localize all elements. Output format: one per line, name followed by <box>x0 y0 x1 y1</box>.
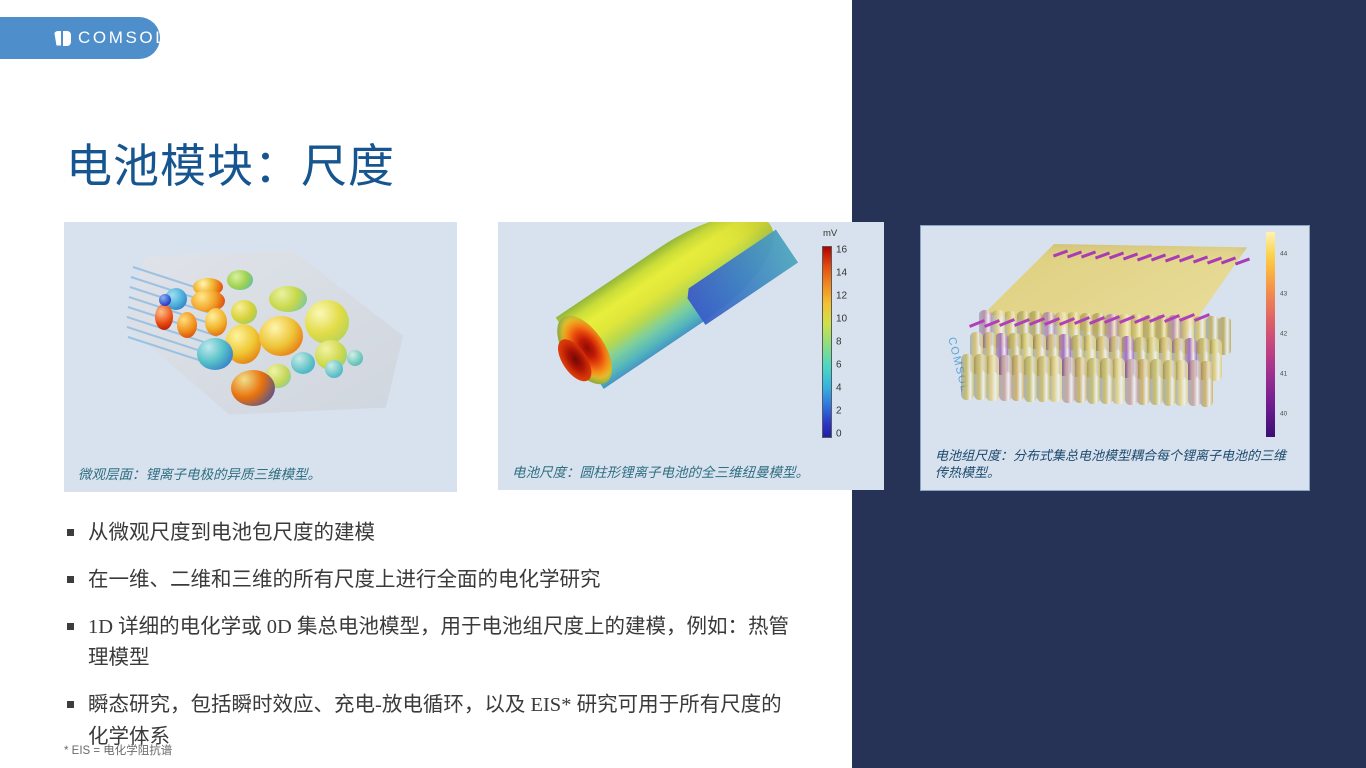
pack-cell <box>1024 356 1037 402</box>
pack-cell <box>1125 359 1138 405</box>
colorbar-mv-tick: 10 <box>836 314 847 325</box>
figure-card-microstructure: 微观层面：锂离子电极的异质三维模型。 <box>64 222 457 492</box>
bullet-item: 1D 详细的电化学或 0D 集总电池模型，用于电池组尺度上的建模，例如：热管理模… <box>62 612 792 676</box>
bullet-list: 从微观尺度到电池包尺度的建模 在一维、二维和三维的所有尺度上进行全面的电化学研究… <box>62 518 792 768</box>
pack-cell <box>974 354 987 400</box>
pack-cell <box>1112 358 1125 404</box>
colorbar-mv-tick: 16 <box>836 245 847 256</box>
microstructure-render <box>64 222 457 444</box>
colorbar-mv-gradient <box>822 246 832 438</box>
figure-caption-battery-pack: 电池组尺度：分布式集总电池模型耦合每个锂离子电池的三维传热模型。 <box>921 441 1309 490</box>
figure-card-battery-pack: COMSOL 电池组尺度：分布式集总电池模型耦合每个锂离子电池的三维传热模型。 <box>920 225 1310 491</box>
figure-caption-cylindrical-cell: 电池尺度：圆柱形锂离子电池的全三维纽曼模型。 <box>498 458 884 490</box>
pack-cell <box>1049 356 1062 402</box>
bullet-square-icon <box>67 576 74 583</box>
pack-cell <box>1163 360 1176 406</box>
colorbar-mv: mV 16 14 12 10 8 6 4 2 0 <box>819 228 879 443</box>
colorbar-temp-tick: 40 <box>1280 411 1287 418</box>
bullet-square-icon <box>67 701 74 708</box>
pack-cell <box>1150 359 1163 405</box>
footnote: * EIS = 电化学阻抗谱 <box>64 742 172 758</box>
cylinder-core <box>551 334 598 387</box>
colorbar-mv-tick: 6 <box>836 360 842 371</box>
figure-caption-microstructure: 微观层面：锂离子电极的异质三维模型。 <box>64 460 457 492</box>
pack-cell <box>1200 361 1213 407</box>
bullet-item: 在一维、二维和三维的所有尺度上进行全面的电化学研究 <box>62 565 792 597</box>
bullet-item: 从微观尺度到电池包尺度的建模 <box>62 518 792 550</box>
jellyroll-cylinder <box>556 222 795 389</box>
pack-scene: COMSOL <box>921 226 1309 435</box>
battery-pack-render: COMSOL <box>921 226 1309 435</box>
bullet-text: 从微观尺度到电池包尺度的建模 <box>88 518 375 550</box>
pack-cell <box>1062 357 1075 403</box>
bullet-text: 在一维、二维和三维的所有尺度上进行全面的电化学研究 <box>88 565 601 597</box>
colorbar-temp-tick: 44 <box>1280 251 1287 258</box>
colorbar-temp-tick: 43 <box>1280 291 1287 298</box>
pack-cell <box>1188 360 1201 406</box>
colorbar-mv-tick: 14 <box>836 268 847 279</box>
bullet-square-icon <box>67 529 74 536</box>
colorbar-mv-unit: mV <box>823 228 837 239</box>
bullet-square-icon <box>67 623 74 630</box>
slide-canvas: COMSOL 电池模块：尺度 <box>0 0 1366 768</box>
pack-cell <box>1137 359 1150 405</box>
comsol-wordmark: COMSOL <box>78 28 167 48</box>
page-title: 电池模块：尺度 <box>66 130 395 196</box>
pack-cell <box>1087 358 1100 404</box>
microstructure-scene <box>119 242 409 422</box>
colorbar-temp-tick: 41 <box>1280 371 1287 378</box>
colorbar-temperature: 44 43 42 41 40 <box>1266 232 1306 447</box>
pack-cell <box>986 355 999 401</box>
colorbar-mv-tick: 0 <box>836 429 842 440</box>
bullet-text: 1D 详细的电化学或 0D 集总电池模型，用于电池组尺度上的建模，例如：热管理模… <box>88 612 792 676</box>
pack-cell <box>1074 357 1087 403</box>
comsol-mark-icon <box>54 31 71 46</box>
colorbar-mv-tick: 4 <box>836 383 842 394</box>
colorbar-mv-tick: 12 <box>836 291 847 302</box>
pack-cell <box>1037 356 1050 402</box>
colorbar-temperature-gradient <box>1266 232 1275 437</box>
comsol-logo: COMSOL <box>54 28 167 48</box>
pack-cell <box>1011 355 1024 401</box>
pack-cell <box>1175 360 1188 406</box>
pack-cell <box>961 354 974 400</box>
colorbar-mv-tick: 2 <box>836 406 842 417</box>
pack-cell <box>999 355 1012 401</box>
colorbar-temp-tick: 42 <box>1280 331 1287 338</box>
bullet-text: 瞬态研究，包括瞬时效应、充电-放电循环，以及 EIS* 研究可用于所有尺度的化学… <box>88 690 792 754</box>
colorbar-mv-tick: 8 <box>836 337 842 348</box>
pack-cell <box>1100 358 1113 404</box>
